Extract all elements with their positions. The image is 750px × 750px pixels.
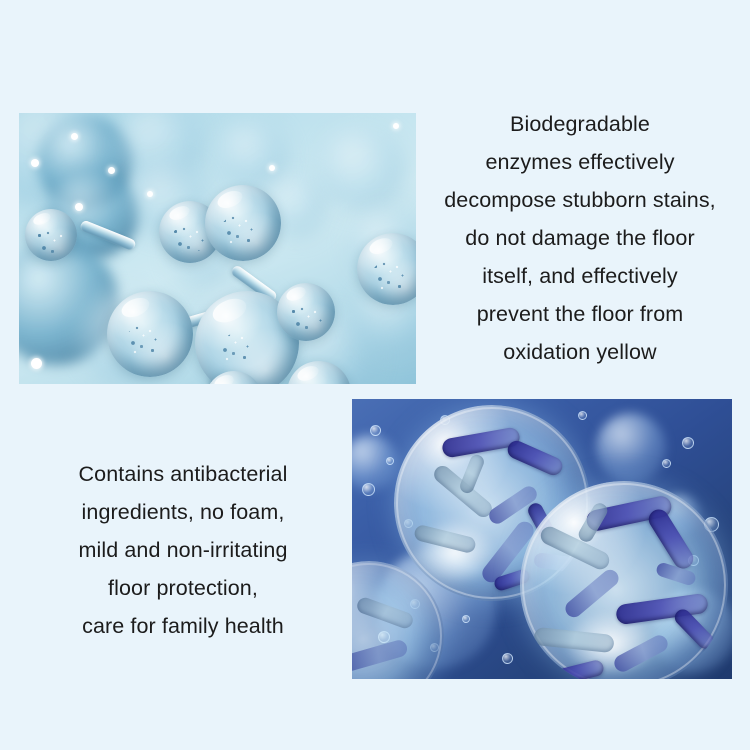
molecule-atom <box>107 291 193 377</box>
feature-line: floor protection, <box>38 569 328 607</box>
background-sphere <box>319 127 405 211</box>
feature-line: do not damage the floor <box>420 219 740 257</box>
feature-line: ingredients, no foam, <box>38 493 328 531</box>
micro-bubble <box>370 425 381 436</box>
highlight-dot <box>75 203 83 211</box>
highlight-dot <box>31 358 42 369</box>
antibacterial-feature-text: Contains antibacterial ingredients, no f… <box>38 455 328 645</box>
promo-page: Biodegradable enzymes effectively decomp… <box>0 0 750 750</box>
highlight-dot <box>269 165 275 171</box>
molecule-atom <box>205 185 281 261</box>
bacteria-bubble <box>520 481 728 679</box>
feature-line: care for family health <box>38 607 328 645</box>
feature-line: oxidation yellow <box>420 333 740 371</box>
micro-bubble <box>662 459 671 468</box>
highlight-dot <box>71 133 78 140</box>
highlight-dot <box>147 191 153 197</box>
micro-bubble <box>386 457 394 465</box>
enzyme-feature-text: Biodegradable enzymes effectively decomp… <box>420 105 740 371</box>
feature-line: enzymes effectively <box>420 143 740 181</box>
micro-bubble <box>462 615 470 623</box>
feature-line: decompose stubborn stains, <box>420 181 740 219</box>
highlight-dot <box>393 123 399 129</box>
micro-bubble <box>578 411 587 420</box>
molecule-image <box>19 113 416 384</box>
micro-bubble <box>502 653 513 664</box>
feature-line: Biodegradable <box>420 105 740 143</box>
molecule-atom <box>277 283 335 341</box>
feature-line: itself, and effectively <box>420 257 740 295</box>
bacteria-image <box>352 399 732 679</box>
feature-line: prevent the floor from <box>420 295 740 333</box>
molecule-atom <box>25 209 77 261</box>
background-bubble <box>596 413 666 483</box>
micro-bubble <box>362 483 375 496</box>
highlight-dot <box>31 159 39 167</box>
feature-line: Contains antibacterial <box>38 455 328 493</box>
background-sphere <box>217 121 287 189</box>
micro-bubble <box>682 437 694 449</box>
feature-line: mild and non-irritating <box>38 531 328 569</box>
highlight-dot <box>108 167 115 174</box>
